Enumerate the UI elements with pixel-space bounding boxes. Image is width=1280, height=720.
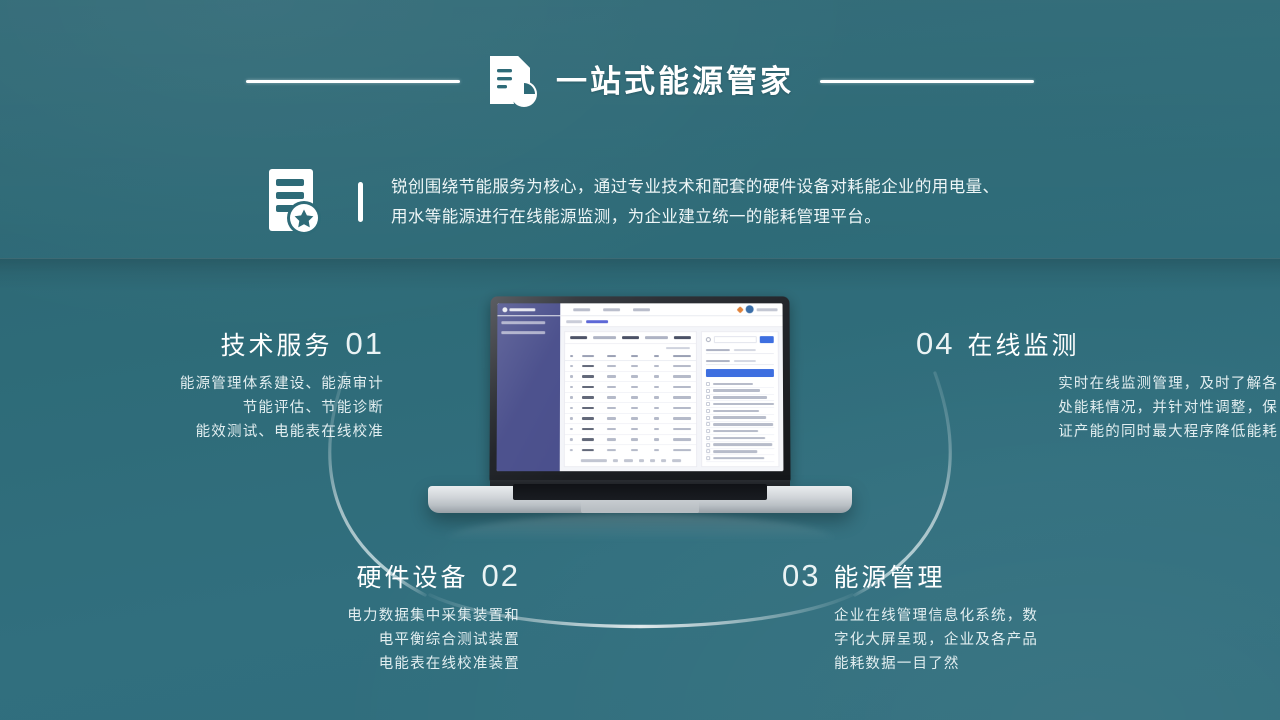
feature-energy-management: 03 能源管理 企业在线管理信息化系统，数 字化大屏呈现，企业及各产品 能耗数据…: [782, 560, 1112, 676]
feature-description: 电力数据集中采集装置和 电平衡综合测试装置 电能表在线校准装置: [210, 604, 520, 676]
feature-desc-line: 能效测试、电能表在线校准: [40, 420, 384, 444]
filter-label: [622, 336, 639, 339]
table-cell: [582, 386, 594, 388]
feature-desc-line: 电平衡综合测试装置: [210, 628, 520, 652]
dashboard-main: [560, 316, 784, 471]
pagination-prev[interactable]: [612, 459, 617, 462]
document-star-icon: [262, 166, 330, 238]
intro-line-2: 用水等能源进行在线能源监测，为企业建立统一的能耗管理平台。: [391, 202, 999, 232]
table-cell: [673, 428, 691, 431]
intro-line-1: 锐创围绕节能服务为核心，通过专业技术和配套的硬件设备对耗能企业的用电量、: [391, 172, 999, 202]
dashboard-panel: [560, 327, 784, 471]
document-chart-icon: [486, 53, 538, 109]
list-item[interactable]: [706, 428, 774, 435]
table-cell: [631, 428, 638, 431]
laptop-base: [428, 486, 852, 513]
table-cell: [654, 407, 659, 410]
column-header: [607, 355, 616, 357]
table-cell: [570, 386, 573, 388]
data-table-card: [564, 331, 697, 467]
laptop-trackpad: [581, 500, 699, 513]
feature-desc-line: 电力数据集中采集装置和: [210, 604, 520, 628]
filter-label: [570, 336, 587, 339]
table-cell: [673, 386, 691, 388]
title-rule-left: [246, 80, 460, 83]
list-item[interactable]: [706, 394, 774, 401]
edit-pencil-icon[interactable]: [737, 306, 744, 313]
table-cell: [654, 438, 659, 441]
list-item-label: [713, 443, 772, 446]
feature-desc-line: 证产能的同时最大程序降低能耗: [916, 420, 1278, 444]
feature-desc-line: 电能表在线校准装置: [210, 652, 520, 676]
pagination-page[interactable]: [638, 459, 643, 462]
table-cell: [673, 449, 691, 452]
search-row[interactable]: [706, 336, 774, 343]
table-cell: [654, 417, 659, 420]
list-item-label: [713, 450, 757, 453]
pagination-page[interactable]: [623, 459, 632, 462]
filter-bar: [565, 332, 696, 344]
table-cell: [654, 386, 659, 388]
table-row[interactable]: [565, 372, 696, 382]
nav-item[interactable]: [573, 308, 590, 311]
feature-heading: 03 能源管理: [782, 560, 1112, 591]
feature-number: 01: [346, 328, 384, 359]
checkbox[interactable]: [706, 409, 710, 413]
intro-divider: [358, 182, 363, 222]
select-label: [706, 349, 730, 351]
checkbox[interactable]: [706, 422, 710, 426]
list-item[interactable]: [706, 449, 774, 456]
feature-name: 技术服务: [221, 334, 333, 359]
checkbox[interactable]: [706, 382, 710, 386]
table-cell: [570, 428, 573, 431]
feature-description: 实时在线监测管理，及时了解各 处能耗情况，并针对性调整，保 证产能的同时最大程序…: [916, 372, 1280, 444]
table-cell: [673, 417, 691, 420]
table-cell: [631, 407, 638, 410]
feature-number: 04: [916, 328, 954, 359]
list-item-label: [713, 403, 774, 406]
dashboard-sidebar: [497, 316, 561, 471]
page-title: 一站式能源管家: [556, 66, 794, 97]
feature-number: 02: [482, 560, 520, 591]
feature-heading: 04 在线监测: [916, 328, 1280, 359]
table-cell: [570, 375, 573, 377]
breadcrumb-parent[interactable]: [566, 320, 582, 323]
table-cell: [607, 386, 616, 388]
title-rule-right: [820, 80, 1034, 83]
list-item[interactable]: [706, 388, 774, 395]
table-cell: [582, 428, 594, 431]
feature-desc-line: 能源管理体系建设、能源审计: [40, 372, 384, 396]
table-cell: [673, 396, 691, 399]
search-button[interactable]: [760, 336, 774, 343]
table-cell: [607, 375, 616, 377]
feature-desc-line: 企业在线管理信息化系统，数: [834, 604, 1112, 628]
feature-desc-line: 处能耗情况，并针对性调整，保: [916, 396, 1278, 420]
table-cell: [570, 365, 573, 367]
table-cell: [607, 428, 616, 431]
table-cell: [582, 449, 594, 452]
table-cell: [607, 365, 616, 367]
title-row: 一站式能源管家: [0, 52, 1280, 110]
list-item[interactable]: [706, 442, 774, 449]
column-header: [631, 355, 638, 357]
list-item[interactable]: [706, 422, 774, 429]
user-area[interactable]: [738, 305, 783, 313]
table-cell: [582, 365, 594, 367]
list-item-label: [713, 396, 767, 399]
table-cell: [607, 417, 616, 420]
table-cell: [673, 438, 691, 441]
table-cell: [673, 375, 691, 377]
table-cell: [654, 375, 659, 377]
table-cell: [570, 407, 573, 410]
dashboard-nav: [560, 308, 737, 311]
pagination-jump[interactable]: [672, 459, 681, 462]
list-item[interactable]: [706, 435, 774, 442]
list-item[interactable]: [706, 381, 774, 388]
table-cell: [582, 417, 594, 420]
pagination-next[interactable]: [661, 459, 666, 462]
feature-online-monitoring: 04 在线监测 实时在线监测管理，及时了解各 处能耗情况，并针对性调整，保 证产…: [916, 328, 1280, 444]
table-cell: [607, 438, 616, 441]
table-header-row: [565, 352, 696, 361]
header-band-edge: [0, 258, 1280, 292]
select-row[interactable]: [706, 358, 774, 365]
table-cell: [570, 417, 573, 420]
table-cell: [673, 407, 691, 410]
table-row[interactable]: [565, 414, 696, 425]
dashboard-body: [497, 316, 784, 471]
search-input[interactable]: [714, 336, 757, 343]
table-cell: [654, 396, 659, 399]
checkbox[interactable]: [706, 429, 710, 433]
table-cell: [631, 396, 638, 399]
select-value[interactable]: [734, 360, 756, 362]
checkbox[interactable]: [706, 436, 710, 440]
table-row[interactable]: [565, 424, 696, 435]
checkbox[interactable]: [706, 402, 710, 406]
feature-desc-line: 能耗数据一目了然: [834, 652, 1112, 676]
table-cell: [673, 365, 691, 367]
avatar[interactable]: [746, 305, 754, 313]
list-item[interactable]: [706, 401, 774, 408]
laptop-mockup: [428, 296, 852, 528]
filter-value[interactable]: [593, 336, 616, 339]
checkbox[interactable]: [706, 389, 710, 393]
dashboard-topbar: [497, 303, 782, 316]
sidebar-item[interactable]: [501, 331, 545, 334]
feature-heading: 硬件设备 02: [210, 560, 520, 591]
table-cell: [582, 407, 594, 410]
list-item-label: [713, 423, 773, 426]
table-cell: [654, 428, 659, 431]
list-item-label: [713, 416, 766, 419]
feature-heading: 技术服务 01: [40, 328, 384, 359]
table-cell: [570, 449, 573, 452]
table-cell: [631, 417, 638, 420]
table-cell: [582, 375, 594, 377]
filter-subnote: [565, 344, 696, 352]
list-item[interactable]: [706, 455, 774, 462]
feature-desc-line: 字化大屏呈现，企业及各产品: [834, 628, 1112, 652]
list-item-label: [713, 383, 753, 385]
feature-desc-line: 节能评估、节能诊断: [40, 396, 384, 420]
column-header: [582, 355, 594, 357]
table-row[interactable]: [565, 403, 696, 414]
feature-name: 能源管理: [833, 566, 945, 591]
select-label: [706, 360, 730, 362]
intro-row: 锐创围绕节能服务为核心，通过专业技术和配套的硬件设备对耗能企业的用电量、 用水等…: [262, 160, 1222, 244]
table-cell: [570, 438, 573, 441]
logo-mark-icon: [502, 307, 507, 312]
laptop-screen: [497, 303, 784, 471]
sidebar-item[interactable]: [501, 321, 545, 324]
feature-technical-service: 技术服务 01 能源管理体系建设、能源审计 节能评估、节能诊断 能效测试、电能表…: [40, 328, 384, 444]
table-rows: [565, 361, 696, 455]
logo-wordmark: [509, 308, 535, 311]
feature-number: 03: [782, 560, 820, 591]
table-cell: [654, 365, 659, 367]
intro-text: 锐创围绕节能服务为核心，通过专业技术和配套的硬件设备对耗能企业的用电量、 用水等…: [391, 172, 999, 232]
table-cell: [631, 449, 638, 452]
pagination[interactable]: [565, 455, 696, 466]
list-item-label: [713, 410, 759, 413]
column-header: [654, 355, 659, 357]
list-item-label: [713, 457, 764, 460]
nav-item[interactable]: [603, 308, 620, 311]
table-cell: [631, 438, 638, 441]
checkbox[interactable]: [706, 416, 710, 420]
feature-description: 能源管理体系建设、能源审计 节能评估、节能诊断 能效测试、电能表在线校准: [40, 372, 384, 444]
primary-action-button[interactable]: [706, 369, 774, 377]
table-row[interactable]: [565, 392, 696, 403]
feature-name: 硬件设备: [357, 566, 469, 591]
pagination-page[interactable]: [650, 459, 655, 462]
feature-desc-line: 实时在线监测管理，及时了解各: [916, 372, 1278, 396]
table-row[interactable]: [565, 445, 696, 455]
list-item-label: [713, 430, 758, 433]
filter-subnote-text: [666, 347, 690, 349]
side-panel: [701, 331, 780, 467]
list-item-label: [713, 389, 760, 391]
table-cell: [654, 449, 659, 452]
breadcrumb: [560, 316, 782, 327]
filter-value[interactable]: [645, 336, 668, 339]
select-value[interactable]: [734, 349, 756, 351]
table-cell: [607, 449, 616, 452]
table-row[interactable]: [565, 435, 696, 446]
table-row[interactable]: [565, 361, 696, 371]
table-cell: [631, 375, 638, 377]
breadcrumb-current: [586, 320, 608, 323]
checkbox[interactable]: [706, 395, 710, 399]
nav-item[interactable]: [633, 308, 650, 311]
table-cell: [631, 386, 638, 388]
feature-hardware-equipment: 硬件设备 02 电力数据集中采集装置和 电平衡综合测试装置 电能表在线校准装置: [210, 560, 520, 676]
search-icon: [706, 337, 711, 342]
list-item[interactable]: [706, 415, 774, 422]
feature-name: 在线监测: [967, 334, 1079, 359]
side-list: [706, 381, 774, 462]
user-name: [757, 308, 778, 311]
list-item[interactable]: [706, 408, 774, 415]
table-cell: [570, 396, 573, 399]
checkbox[interactable]: [706, 449, 710, 453]
feature-description: 企业在线管理信息化系统，数 字化大屏呈现，企业及各产品 能耗数据一目了然: [782, 604, 1112, 676]
slide-stage: 一站式能源管家 锐创围绕节能服务为核心，通过专业技术和配套的硬件设备对耗能企业的…: [0, 0, 1280, 720]
table-cell: [582, 396, 594, 399]
column-header: [673, 355, 691, 357]
dashboard-logo: [497, 303, 560, 315]
select-row[interactable]: [706, 347, 774, 354]
laptop-keyboard: [513, 484, 767, 500]
table-row[interactable]: [565, 382, 696, 392]
list-item-label: [713, 437, 765, 440]
checkbox[interactable]: [706, 443, 710, 447]
table-cell: [607, 396, 616, 399]
table-cell: [631, 365, 638, 367]
column-header: [570, 355, 573, 357]
table-cell: [607, 407, 616, 410]
laptop-lid: [489, 296, 790, 482]
filter-label: [674, 336, 691, 339]
pagination-info: [580, 459, 606, 462]
laptop-reflection: [446, 514, 834, 540]
table-cell: [582, 438, 594, 441]
checkbox[interactable]: [706, 456, 710, 460]
